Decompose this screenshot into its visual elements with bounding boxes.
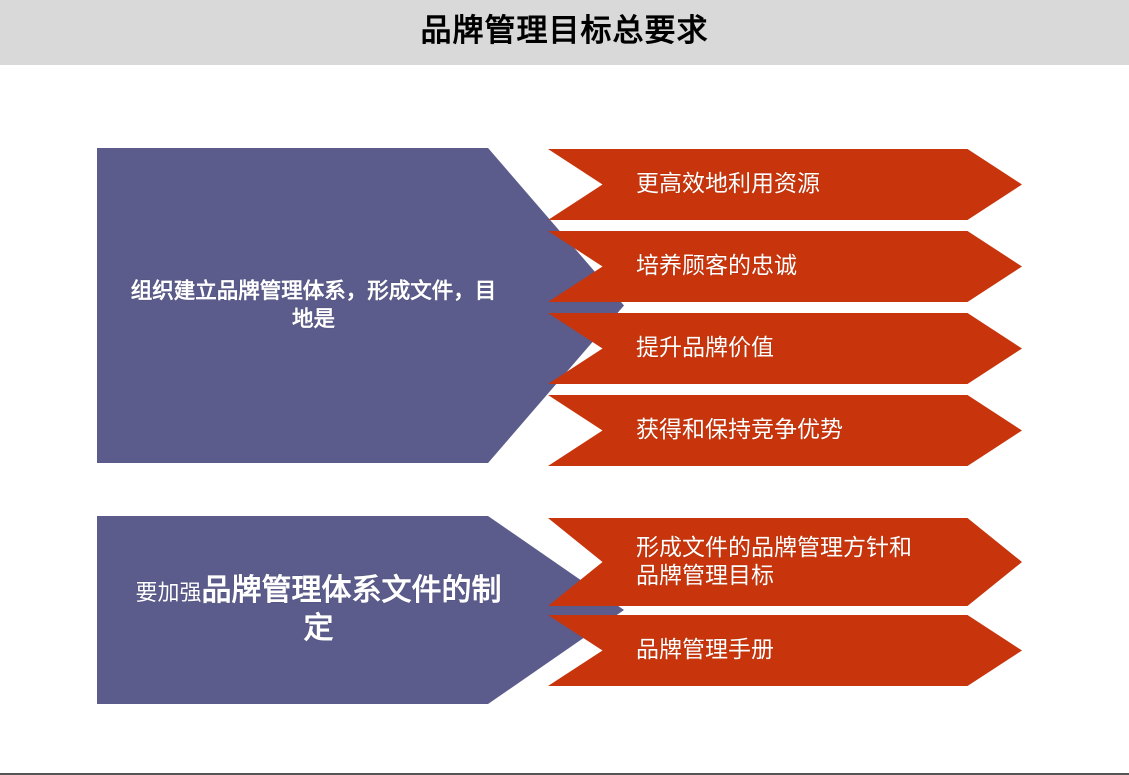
group-1-arrow-item-3[interactable]: 提升品牌价值 (548, 313, 1022, 384)
group-2-arrow-item-2-label: 品牌管理手册 (548, 636, 1022, 665)
group-2-arrow-item-1[interactable]: 形成文件的品牌管理方针和品牌管理目标 (548, 518, 1022, 606)
group-1-arrow-item-4[interactable]: 获得和保持竞争优势 (548, 395, 1022, 466)
group-1-arrow-item-4-label: 获得和保持竞争优势 (548, 416, 1022, 445)
group-1-arrow-item-3-label: 提升品牌价值 (548, 334, 1022, 363)
group-2-arrow-item-2[interactable]: 品牌管理手册 (548, 615, 1022, 686)
title-banner: 品牌管理目标总要求 (0, 0, 1129, 65)
group-1-arrow-item-2[interactable]: 培养顾客的忠诚 (548, 231, 1022, 302)
group-1-lead-shape[interactable]: 组织建立品牌管理体系，形成文件，目地是 (97, 148, 624, 463)
slide-canvas: 品牌管理目标总要求 组织建立品牌管理体系，形成文件，目地是 更高效地利用资源 培… (0, 0, 1129, 775)
group-2-lead-emphasis: 品牌管理体系文件的制定 (202, 573, 502, 646)
group-1-arrow-item-2-label: 培养顾客的忠诚 (548, 252, 1022, 281)
group-2-lead-shape[interactable]: 要加强品牌管理体系文件的制定 (97, 516, 624, 704)
group-2-lead-prefix: 要加强 (135, 581, 201, 606)
group-1-lead-label: 组织建立品牌管理体系，形成文件，目地是 (97, 278, 624, 333)
group-1-arrow-item-1-label: 更高效地利用资源 (548, 170, 1022, 199)
group-1-arrow-item-1[interactable]: 更高效地利用资源 (548, 149, 1022, 220)
group-2-arrow-item-1-label: 形成文件的品牌管理方针和品牌管理目标 (548, 534, 1022, 590)
page-title: 品牌管理目标总要求 (0, 0, 1129, 65)
group-2-lead-label: 要加强品牌管理体系文件的制定 (97, 572, 624, 649)
